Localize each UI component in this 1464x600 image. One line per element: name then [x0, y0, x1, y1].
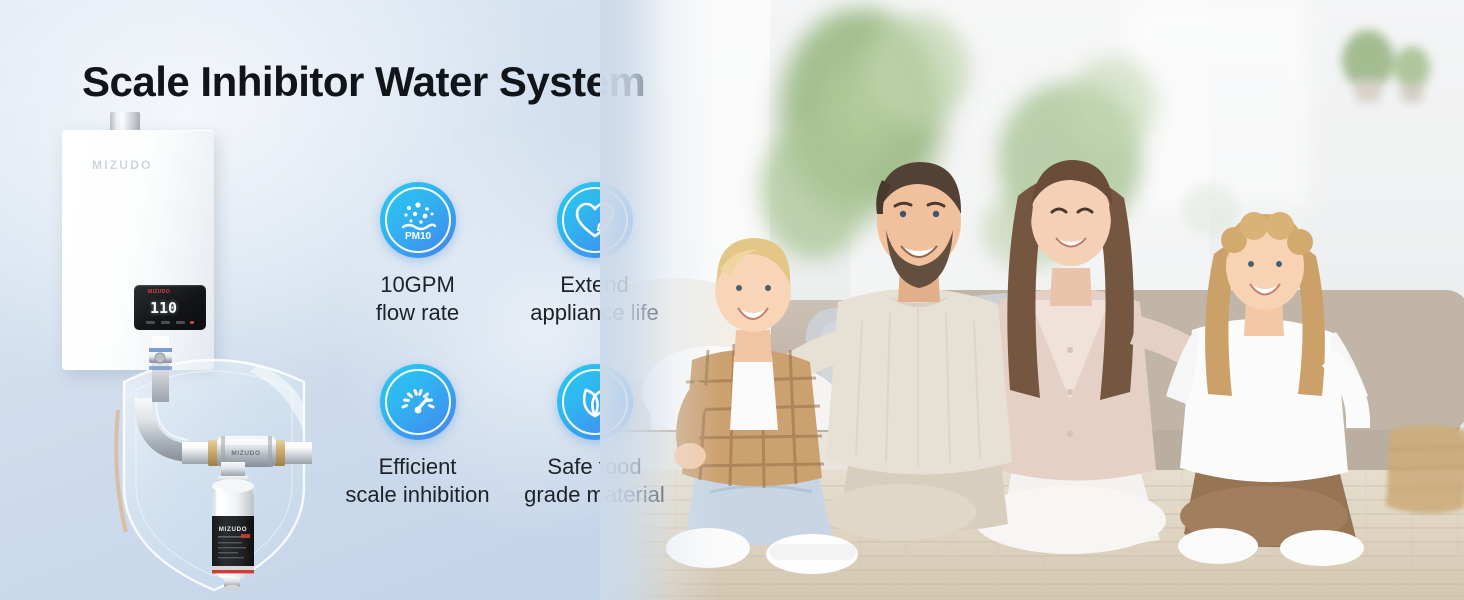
- speedometer-gauge-icon: [380, 364, 456, 440]
- heater-flue-vent: [110, 112, 140, 132]
- living-room-scene: [600, 0, 1464, 600]
- product-banner: Scale Inhibitor Water System MIZUDO MIZU…: [0, 0, 1464, 600]
- pipe-brand-label: MIZUDO: [231, 450, 260, 457]
- heater-control-panel: MIZUDO 110: [134, 285, 206, 330]
- feature-label-scale-inhibition: Efficient scale inhibition: [345, 453, 489, 508]
- panel-logo: MIZUDO: [148, 289, 170, 295]
- feature-item-scale-inhibition[interactable]: Efficient scale inhibition: [336, 364, 499, 508]
- heater-brand-label: MIZUDO: [92, 158, 153, 172]
- pm10-particles-icon: PM10: [380, 182, 456, 258]
- feature-item-flow-rate[interactable]: PM10 10GPM flow rate: [336, 182, 499, 326]
- heater-body: MIZUDO MIZUDO 110: [62, 130, 214, 370]
- lifestyle-photo: [600, 0, 1464, 600]
- pm10-label: PM10: [404, 231, 431, 242]
- panel-buttons[interactable]: [146, 321, 196, 325]
- panel-temperature-display: 110: [150, 299, 177, 317]
- filter-brand-label: MIZUDO: [219, 526, 248, 533]
- page-title: Scale Inhibitor Water System: [82, 58, 645, 106]
- photo-left-fade: [600, 0, 720, 600]
- scale-inhibitor-assembly: MIZUDO MIZUDO: [108, 336, 318, 594]
- feature-label-flow-rate: 10GPM flow rate: [376, 271, 459, 326]
